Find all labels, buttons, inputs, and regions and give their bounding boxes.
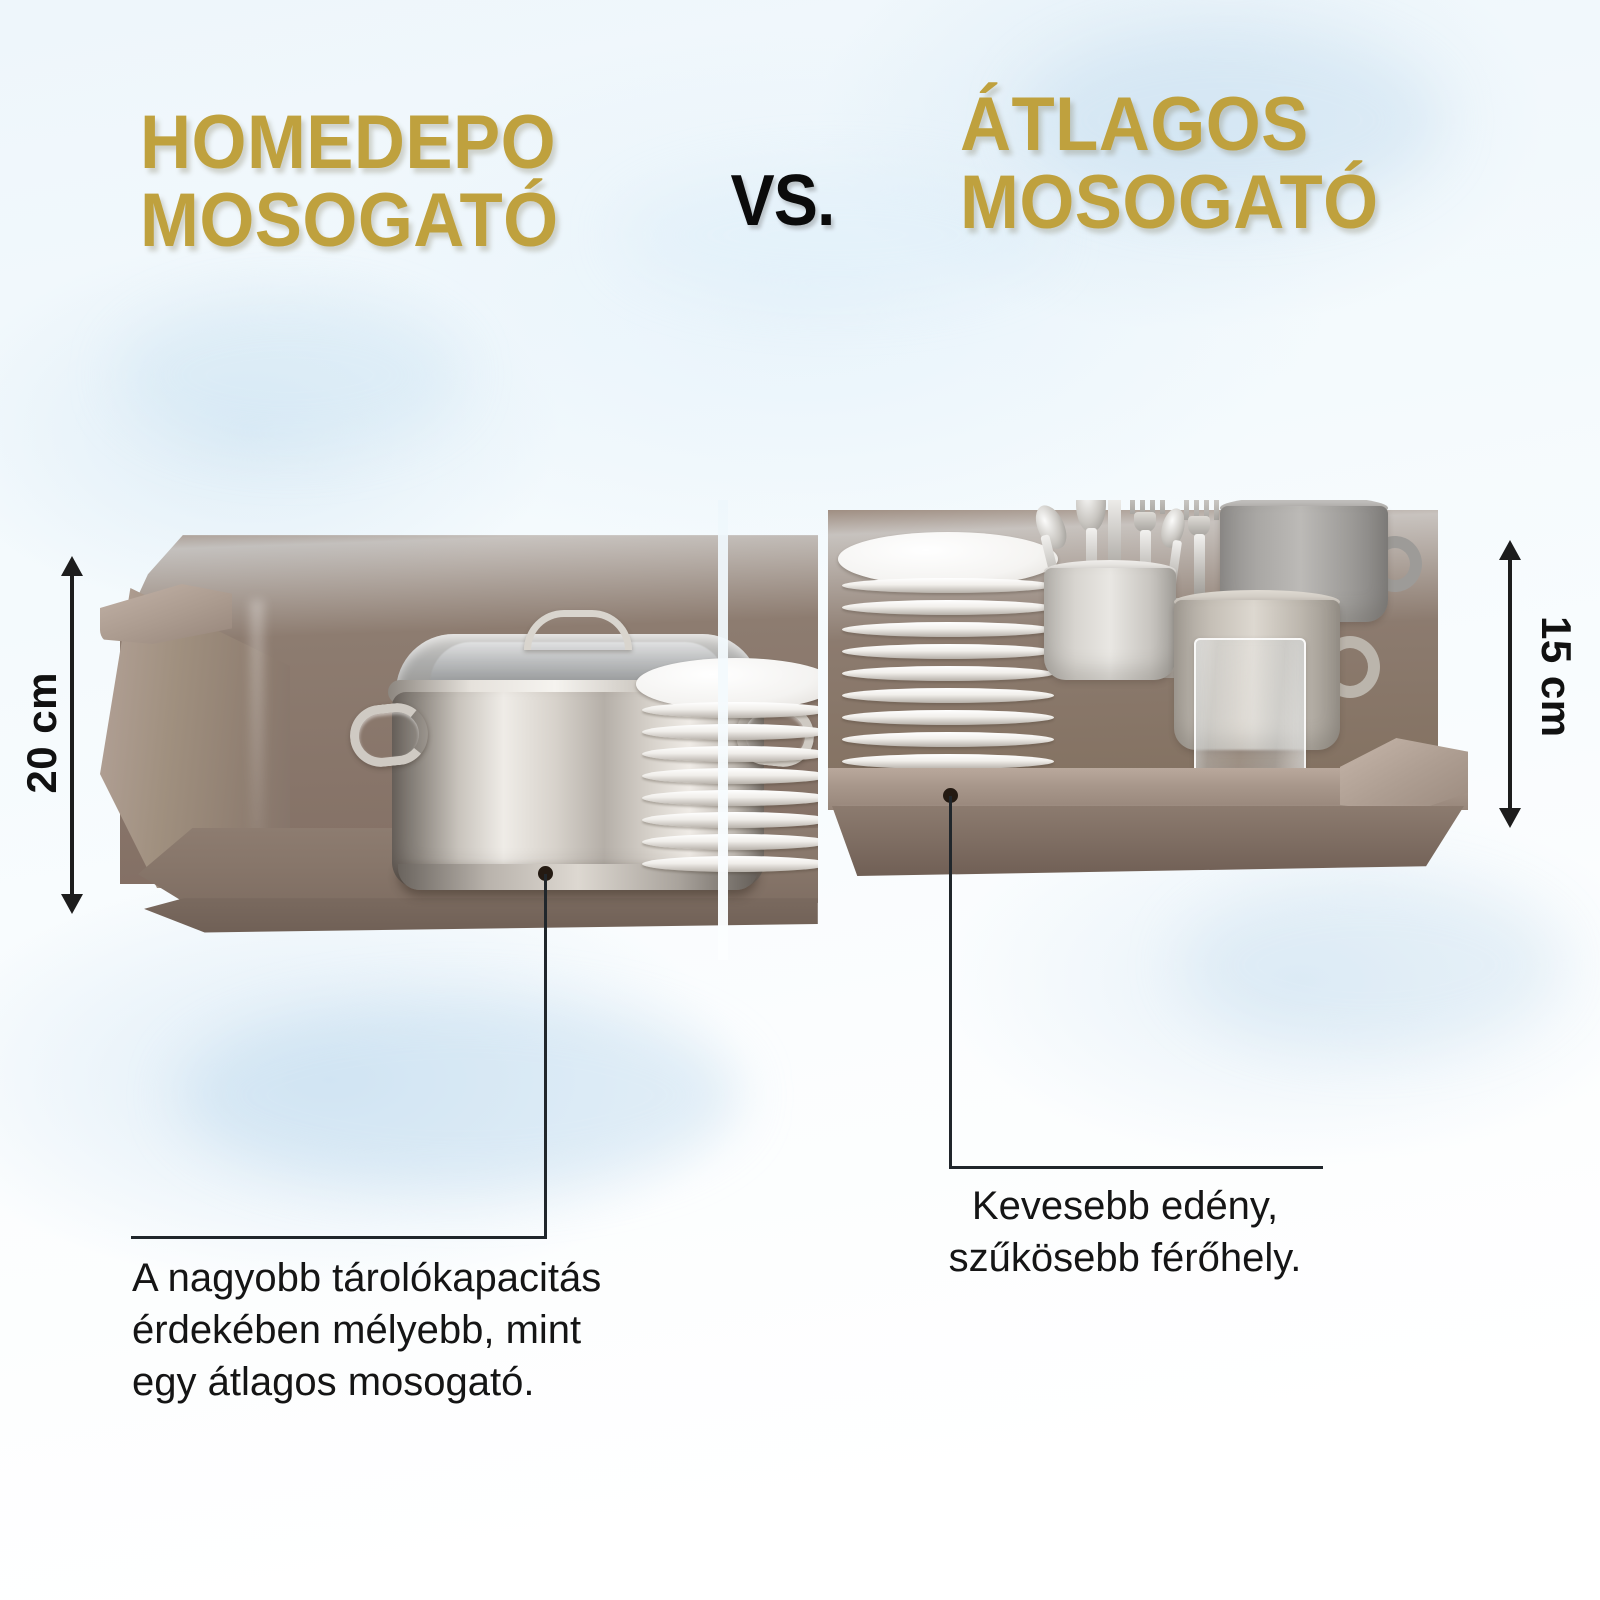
fork-tine	[1214, 500, 1219, 520]
plate	[842, 688, 1054, 703]
deep-sink-basin	[100, 528, 818, 946]
dimension-label-left: 20 cm	[18, 672, 66, 794]
plate	[842, 600, 1054, 615]
dimension-line	[70, 570, 74, 900]
plate	[642, 746, 818, 762]
product-image-average-sink	[828, 500, 1468, 960]
plate	[842, 732, 1054, 747]
fork-neck	[1188, 516, 1210, 536]
plate	[842, 666, 1054, 681]
plate	[642, 812, 818, 828]
fork-neck	[1134, 512, 1156, 532]
plate	[842, 622, 1054, 637]
plate	[842, 578, 1054, 593]
leader-line-vertical	[544, 874, 547, 1238]
caption-left: A nagyobb tárolókapacitás érdekében mély…	[132, 1252, 692, 1408]
panel-divider	[718, 500, 728, 960]
plate	[642, 702, 818, 718]
fork-tine	[1130, 500, 1135, 514]
marble-vein	[120, 300, 460, 450]
shallow-sink-basin	[828, 510, 1468, 910]
product-image-homedepo-sink	[100, 500, 818, 960]
plate	[842, 644, 1054, 659]
marble-vein	[180, 1000, 740, 1190]
page-title-left: HOMEDEPO MOSOGATÓ	[140, 104, 661, 259]
leader-line-horizontal	[131, 1236, 547, 1239]
caption-right: Kevesebb edény, szűkösebb férőhely.	[910, 1180, 1340, 1284]
leader-line-vertical	[949, 796, 952, 1168]
infographic-canvas: HOMEDEPO MOSOGATÓ VS. ÁTLAGOS MOSOGATÓ	[0, 0, 1600, 1600]
product-photo-band	[0, 500, 1600, 960]
dimension-label-right: 15 cm	[1532, 616, 1580, 738]
plate	[642, 768, 818, 784]
sink-front-edge	[832, 806, 1464, 876]
plate	[842, 710, 1054, 725]
pot-lid-handle	[524, 610, 632, 650]
plate-stack-right	[838, 532, 1058, 780]
plate	[642, 790, 818, 806]
plate	[842, 754, 1054, 769]
dimension-marker-right: 15 cm	[1488, 540, 1532, 828]
leader-line-horizontal	[949, 1166, 1323, 1169]
plate	[642, 724, 818, 740]
vs-label: VS.	[731, 160, 835, 242]
white-mug	[1044, 568, 1176, 680]
plate	[642, 856, 818, 872]
dimension-line	[1508, 554, 1512, 814]
page-title-right: ÁTLAGOS MOSOGATÓ	[960, 86, 1481, 241]
arrow-down-icon	[1499, 808, 1521, 828]
plate	[642, 834, 818, 850]
arrow-down-icon	[61, 894, 83, 914]
dimension-marker-left: 20 cm	[50, 556, 94, 914]
fork-tine	[1160, 500, 1165, 514]
